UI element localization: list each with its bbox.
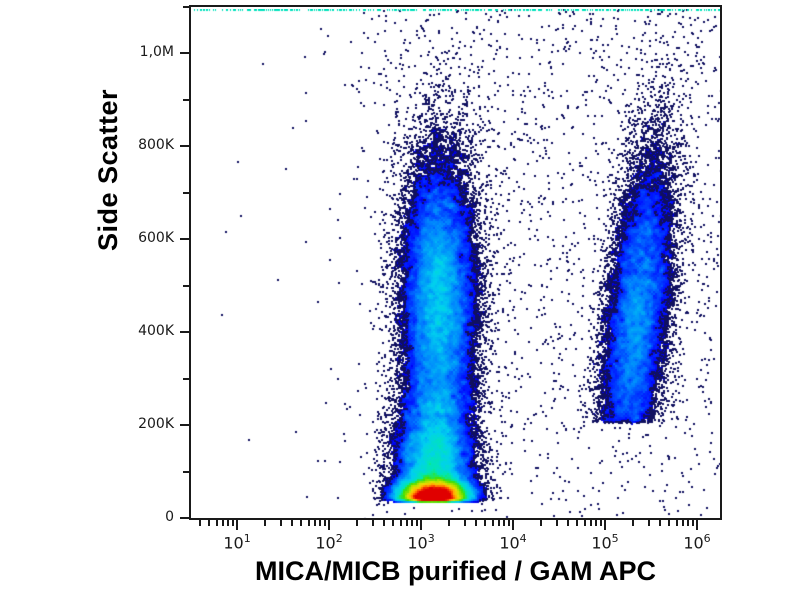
x-tick-minor: [503, 520, 505, 526]
x-tick-minor: [600, 520, 602, 526]
x-tick-label: 101: [223, 532, 250, 552]
x-tick-minor: [383, 520, 385, 526]
x-tick-minor: [208, 520, 210, 526]
x-tick-minor: [632, 520, 634, 526]
x-tick-minor: [540, 520, 542, 526]
x-tick-label: 103: [407, 532, 434, 552]
x-tick-minor: [595, 520, 597, 526]
x-tick-label: 104: [499, 532, 526, 552]
x-tick-minor: [687, 520, 689, 526]
x-tick-minor: [400, 520, 402, 526]
x-tick-minor: [567, 520, 569, 526]
x-tick-minor: [648, 520, 650, 526]
x-tick-minor: [324, 520, 326, 526]
x-tick-minor: [216, 520, 218, 526]
x-tick-minor: [668, 520, 670, 526]
x-tick-minor: [416, 520, 418, 526]
y-tick-major: [180, 331, 189, 333]
x-tick-minor: [406, 520, 408, 526]
x-tick-minor: [692, 520, 694, 526]
x-tick-minor: [199, 520, 201, 526]
x-tick-major: [604, 520, 606, 530]
x-tick-minor: [227, 520, 229, 526]
y-tick-label: 800K: [138, 137, 174, 153]
x-tick-major: [696, 520, 698, 530]
x-tick-label: 105: [591, 532, 618, 552]
x-tick-minor: [222, 520, 224, 526]
x-tick-minor: [659, 520, 661, 526]
plot-area: [189, 5, 722, 520]
x-tick-minor: [590, 520, 592, 526]
x-tick-minor: [484, 520, 486, 526]
y-tick-major: [180, 145, 189, 147]
x-tick-minor: [308, 520, 310, 526]
density-scatter-canvas: [193, 9, 722, 520]
x-tick-minor: [372, 520, 374, 526]
y-tick-label: 600K: [138, 230, 174, 246]
x-tick-minor: [492, 520, 494, 526]
x-tick-minor: [300, 520, 302, 526]
y-axis-label: Side Scatter: [88, 40, 128, 300]
flow-cytometry-plot: Side Scatter 0200K400K600K800K1,0M 10110…: [0, 0, 800, 600]
x-tick-minor: [464, 520, 466, 526]
x-tick-minor: [280, 520, 282, 526]
x-tick-minor: [232, 520, 234, 526]
x-tick-minor: [448, 520, 450, 526]
x-tick-minor: [411, 520, 413, 526]
x-tick-minor: [264, 520, 266, 526]
x-tick-major: [512, 520, 514, 530]
y-tick-label: 1,0M: [140, 44, 174, 60]
y-tick-label: 0: [165, 509, 174, 525]
x-tick-major: [420, 520, 422, 530]
x-tick-minor: [475, 520, 477, 526]
x-tick-minor: [314, 520, 316, 526]
x-tick-label: 106: [683, 532, 710, 552]
y-tick-major: [180, 424, 189, 426]
x-tick-major: [236, 520, 238, 530]
x-tick-minor: [498, 520, 500, 526]
x-tick-minor: [508, 520, 510, 526]
x-tick-minor: [682, 520, 684, 526]
y-tick-label: 400K: [138, 323, 174, 339]
x-tick-minor: [576, 520, 578, 526]
y-tick-label: 200K: [138, 416, 174, 432]
y-tick-major: [180, 517, 189, 519]
x-tick-label: 102: [315, 532, 342, 552]
x-tick-minor: [392, 520, 394, 526]
y-tick-major: [180, 238, 189, 240]
x-tick-major: [328, 520, 330, 530]
x-tick-minor: [584, 520, 586, 526]
x-tick-minor: [319, 520, 321, 526]
y-tick-major: [180, 52, 189, 54]
x-tick-minor: [356, 520, 358, 526]
x-axis-label: MICA/MICB purified / GAM APC: [189, 556, 722, 587]
x-tick-minor: [291, 520, 293, 526]
x-tick-minor: [556, 520, 558, 526]
x-tick-minor: [676, 520, 678, 526]
